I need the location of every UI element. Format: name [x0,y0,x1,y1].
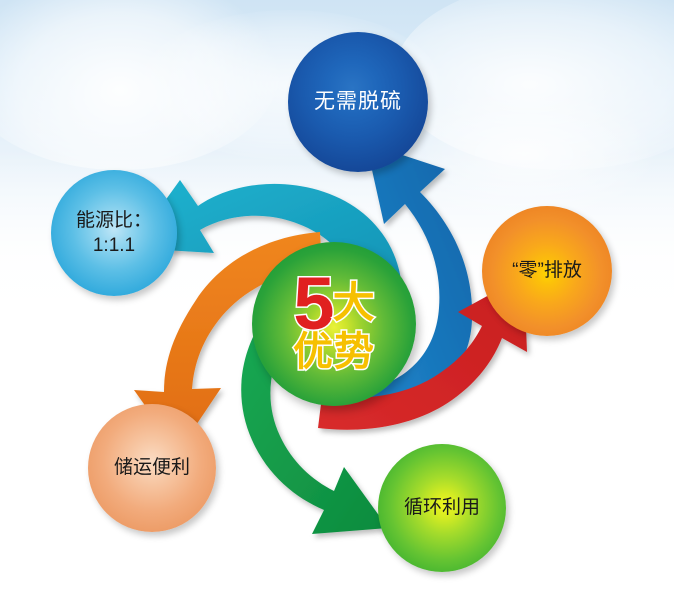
center-node-five-advantages[interactable]: 5大 优势 [252,242,416,406]
center-unit: 大 [333,279,375,326]
node-no-desulfurization[interactable]: 无需脱硫 [288,32,428,172]
node-label: 无需脱硫 [308,88,408,116]
node-label: 循环利用 [398,495,486,520]
node-label: “零”排放 [506,258,588,283]
node-label: 能源比： 1:1.1 [70,208,158,258]
node-label: 储运便利 [108,455,196,480]
node-storage-transport-convenience[interactable]: 储运便利 [88,404,216,532]
infographic-canvas: 无需脱硫 能源比： 1:1.1 储运便利 “零”排放 循环利用 5大 优势 [0,0,674,614]
center-label: 5大 优势 [252,269,416,378]
node-recycling-reuse[interactable]: 循环利用 [378,444,506,572]
node-label-line2: 1:1.1 [93,235,135,256]
node-label-line1: 能源比： [76,210,152,231]
node-zero-emission[interactable]: “零”排放 [482,206,612,336]
center-word: 优势 [252,326,416,379]
node-energy-ratio[interactable]: 能源比： 1:1.1 [51,170,177,296]
